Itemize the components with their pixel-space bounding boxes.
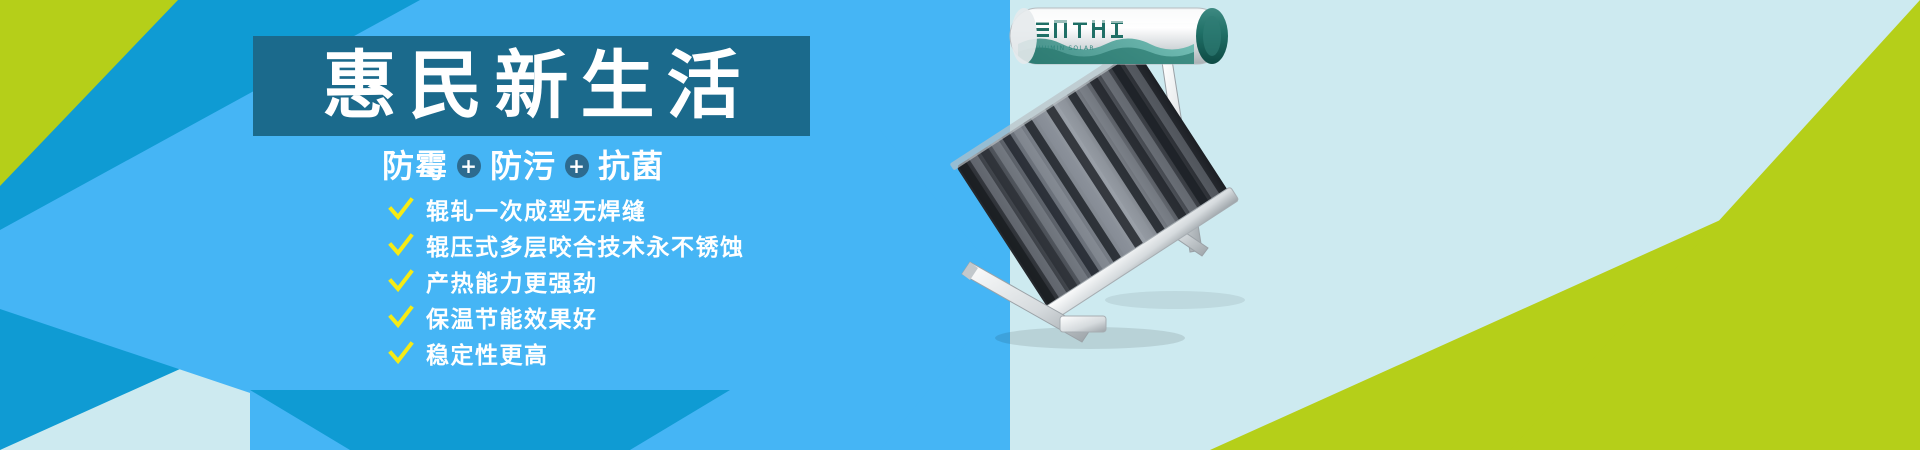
banner-title-block: 惠民新生活	[253, 36, 810, 136]
feature-label: 辊压式多层咬合技术永不锈蚀	[426, 228, 745, 262]
feature-label: 产热能力更强劲	[426, 264, 598, 298]
list-item: 稳定性更高	[388, 337, 908, 369]
svg-text:HUIMIN SOLAR: HUIMIN SOLAR	[1036, 45, 1095, 52]
feature-label: 辊轧一次成型无焊缝	[426, 192, 647, 226]
feature-list: 辊轧一次成型无焊缝 辊压式多层咬合技术永不锈蚀 产热能力更强劲 保温节能效果好	[388, 193, 908, 373]
feature-label: 稳定性更高	[426, 336, 549, 370]
list-item: 辊压式多层咬合技术永不锈蚀	[388, 229, 908, 261]
banner-title: 惠民新生活	[311, 49, 753, 123]
plus-icon: +	[565, 154, 589, 178]
check-icon	[388, 268, 414, 294]
check-icon	[388, 232, 414, 258]
check-icon	[388, 196, 414, 222]
plus-icon: +	[457, 154, 481, 178]
feature-label: 保温节能效果好	[426, 300, 598, 334]
banner-subtitle: 防霉 + 防污 + 抗菌	[380, 142, 820, 186]
check-icon	[388, 304, 414, 330]
promo-banner: HUIMIN SOLAR 惠民新生活 防霉 + 防污 + 抗菌 辊轧一次成型无焊…	[0, 0, 1920, 450]
subtitle-part-3: 抗菌	[598, 141, 664, 187]
subtitle-part-2: 防污	[490, 141, 556, 187]
solar-water-heater-image: HUIMIN SOLAR	[940, 0, 1280, 360]
list-item: 产热能力更强劲	[388, 265, 908, 297]
subtitle-part-1: 防霉	[382, 141, 448, 187]
list-item: 辊轧一次成型无焊缝	[388, 193, 908, 225]
check-icon	[388, 340, 414, 366]
list-item: 保温节能效果好	[388, 301, 908, 333]
